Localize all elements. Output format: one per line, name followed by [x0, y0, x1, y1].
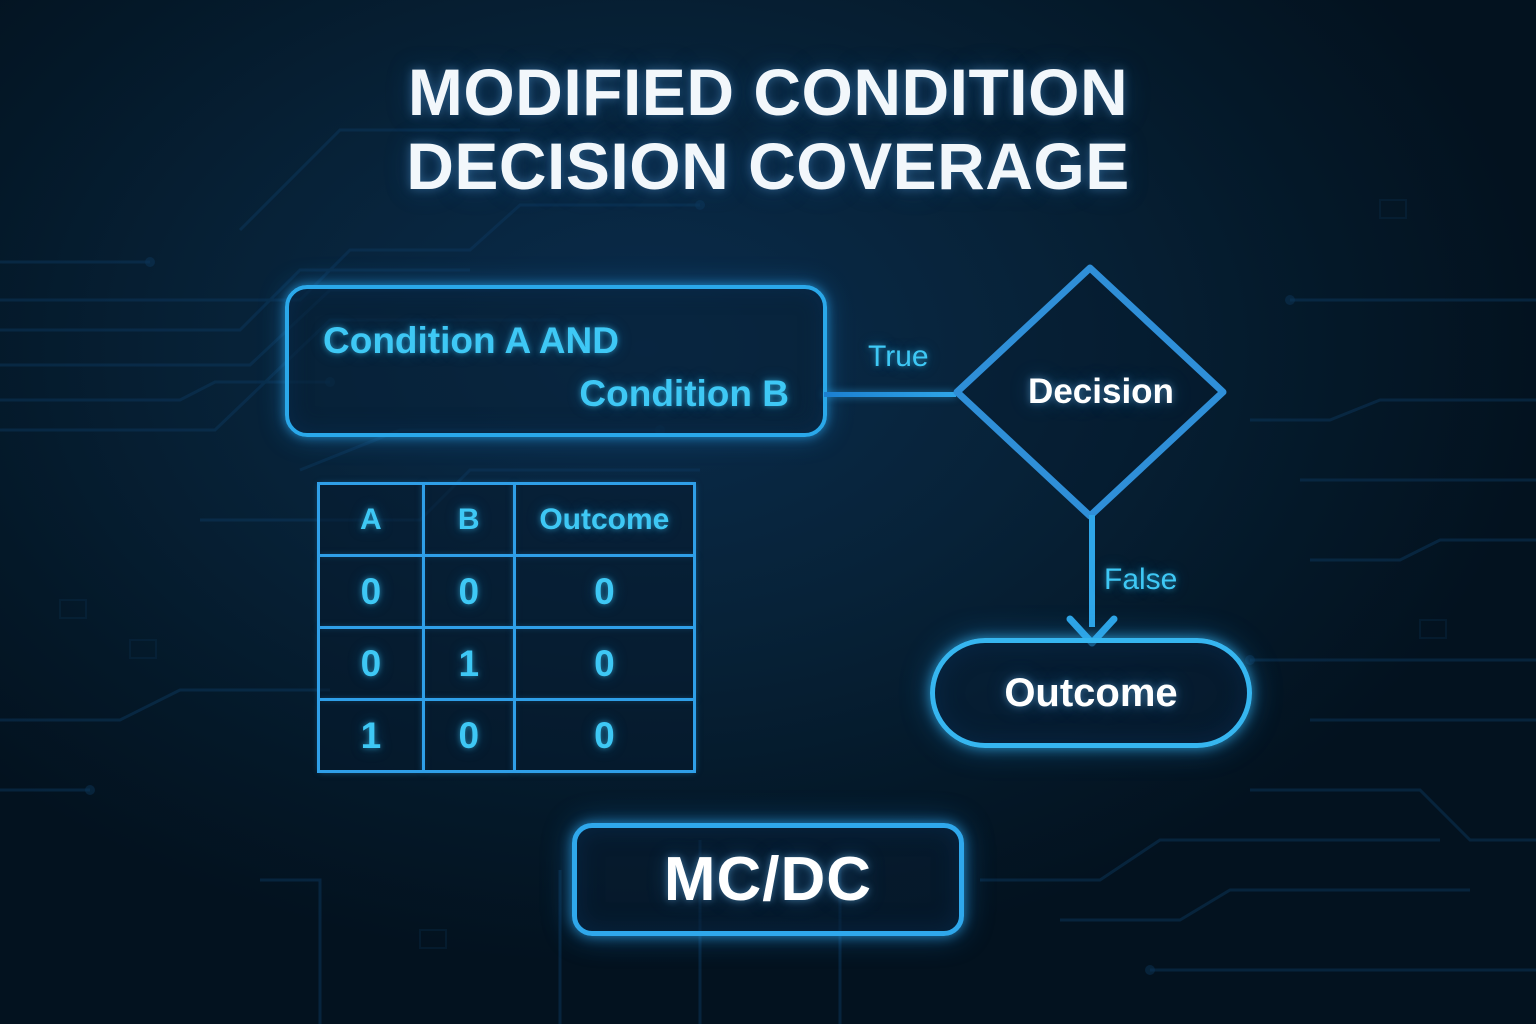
true-connector-line — [824, 392, 956, 397]
column-header-b: B — [423, 484, 514, 556]
mcdc-label: MC/DC — [664, 844, 872, 915]
mcdc-badge: MC/DC — [572, 823, 964, 936]
table-row: 1 0 0 — [319, 700, 695, 772]
cell-b: 1 — [423, 628, 514, 700]
decision-label: Decision — [952, 263, 1228, 521]
truth-table: A B Outcome 0 0 0 0 1 0 1 0 0 — [317, 482, 696, 773]
cell-b: 0 — [423, 556, 514, 628]
outcome-label: Outcome — [1004, 671, 1177, 716]
false-label: False — [1104, 563, 1177, 597]
table-header-row: A B Outcome — [319, 484, 695, 556]
diagram-canvas: MODIFIED CONDITION DECISION COVERAGE Con… — [0, 0, 1536, 1024]
condition-line-1: Condition A AND — [323, 315, 789, 368]
true-label: True — [868, 340, 929, 374]
table-row: 0 0 0 — [319, 556, 695, 628]
cell-outcome: 0 — [514, 700, 694, 772]
decision-node: Decision — [952, 263, 1228, 521]
table-row: 0 1 0 — [319, 628, 695, 700]
condition-line-2: Condition B — [323, 368, 789, 421]
cell-b: 0 — [423, 700, 514, 772]
outcome-node: Outcome — [930, 638, 1252, 748]
column-header-a: A — [319, 484, 424, 556]
cell-outcome: 0 — [514, 556, 694, 628]
page-title: MODIFIED CONDITION DECISION COVERAGE — [0, 56, 1536, 204]
cell-outcome: 0 — [514, 628, 694, 700]
cell-a: 1 — [319, 700, 424, 772]
title-line-1: MODIFIED CONDITION — [408, 55, 1128, 129]
column-header-outcome: Outcome — [514, 484, 694, 556]
condition-expression-box: Condition A AND Condition B — [285, 285, 827, 437]
cell-a: 0 — [319, 628, 424, 700]
title-line-2: DECISION COVERAGE — [0, 130, 1536, 204]
cell-a: 0 — [319, 556, 424, 628]
